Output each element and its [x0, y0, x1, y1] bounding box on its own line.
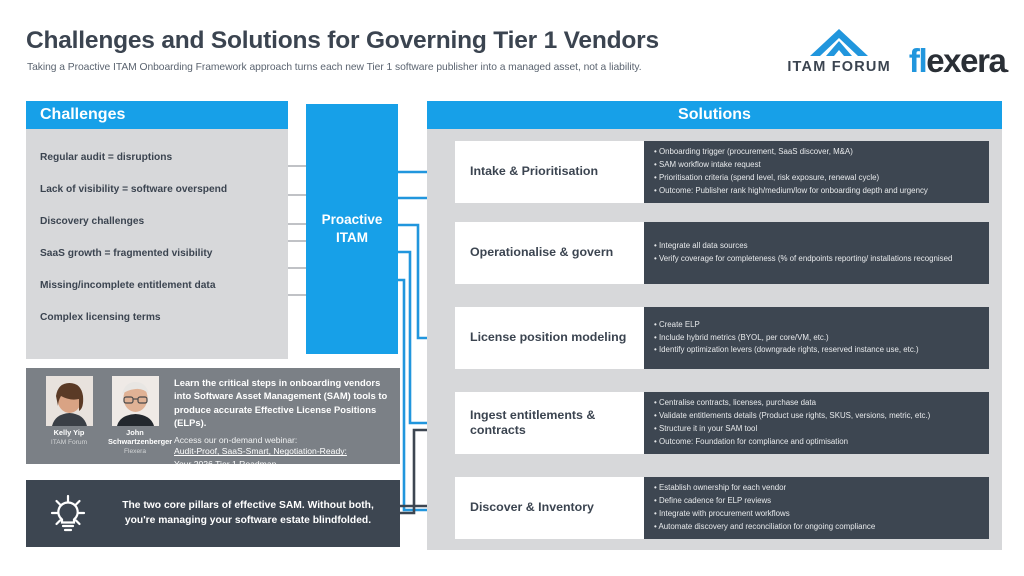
solution-bullets: Establish ownership for each vendor Defi… [644, 477, 989, 539]
proactive-itam-box: Proactive ITAM [306, 104, 398, 354]
bullet: Verify coverage for completeness (% of e… [654, 253, 980, 266]
speaker-name: John Schwartzenberger [108, 429, 162, 447]
lightbulb-icon [47, 493, 89, 535]
solution-label: Discover & Inventory [455, 477, 644, 539]
bullet: Establish ownership for each vendor [654, 482, 980, 495]
solution-bullets: Centralise contracts, licenses, purchase… [644, 392, 989, 454]
webinar-lead-text: Learn the critical steps in onboarding v… [174, 376, 390, 429]
bullet: Validate entitlements details (Product u… [654, 410, 980, 423]
page-title: Challenges and Solutions for Governing T… [26, 27, 659, 55]
speaker-org: Flexera [108, 448, 162, 455]
bullet: Integrate with procurement workflows [654, 508, 980, 521]
solution-label: Intake & Prioritisation [455, 141, 644, 203]
proactive-itam-line1: Proactive [322, 211, 383, 229]
speaker-card: Kelly Yip ITAM Forum [42, 376, 96, 456]
bullet: Integrate all data sources [654, 240, 980, 253]
solution-bullets: Integrate all data sources Verify covera… [644, 222, 989, 284]
lightbulb-icon-wrap [26, 493, 110, 535]
solution-row-license-position: License position modeling Create ELP Inc… [455, 307, 989, 369]
solutions-heading: Solutions [427, 101, 1002, 129]
solution-label: Ingest entitlements & contracts [455, 392, 644, 454]
webinar-link-line1[interactable]: Audit-Proof, SaaS-Smart, Negotiation-Rea… [174, 445, 390, 457]
challenges-heading: Challenges [26, 101, 288, 129]
speaker-org: ITAM Forum [42, 439, 96, 446]
itam-forum-wordmark: ITAM FORUM [787, 59, 891, 75]
avatar [112, 376, 159, 426]
bullet: SAM workflow intake request [654, 159, 980, 172]
webinar-access-text: Access our on-demand webinar: [174, 435, 390, 445]
bullet: Onboarding trigger (procurement, SaaS di… [654, 146, 980, 159]
avatar [46, 376, 93, 426]
solution-label: License position modeling [455, 307, 644, 369]
page-header: Challenges and Solutions for Governing T… [0, 0, 1024, 94]
challenges-panel: Challenges Regular audit = disruptions L… [26, 101, 288, 359]
bullet: Identify optimization levers (downgrade … [654, 344, 980, 357]
flexera-logo-blue: fl [909, 42, 926, 79]
itam-mountain-icon [806, 27, 872, 58]
solution-row-ingest-entitlements: Ingest entitlements & contracts Centrali… [455, 392, 989, 454]
challenges-list: Regular audit = disruptions Lack of visi… [26, 129, 288, 333]
bullet: Automate discovery and reconciliation fo… [654, 521, 980, 534]
challenge-item: Regular audit = disruptions [40, 141, 288, 173]
proactive-itam-line2: ITAM [336, 229, 368, 247]
webinar-link-line2[interactable]: Your 2026 Tier 1 Roadmap [174, 458, 390, 470]
challenge-item: Discovery challenges [40, 205, 288, 237]
bullet: Outcome: Publisher rank high/medium/low … [654, 185, 980, 198]
bullet: Include hybrid metrics (BYOL, per core/V… [654, 332, 980, 345]
pillars-callout-box: The two core pillars of effective SAM. W… [26, 480, 400, 547]
speaker-name: Kelly Yip [42, 429, 96, 438]
webinar-copy: Learn the critical steps in onboarding v… [162, 376, 390, 456]
solution-bullets: Onboarding trigger (procurement, SaaS di… [644, 141, 989, 203]
bullet: Create ELP [654, 319, 980, 332]
flexera-logo: flexera. [909, 44, 1008, 77]
solution-row-discover-inventory: Discover & Inventory Establish ownership… [455, 477, 989, 539]
speaker-card: John Schwartzenberger Flexera [108, 376, 162, 456]
bullet: Structure it in your SAM tool [654, 423, 980, 436]
speaker-group: Kelly Yip ITAM Forum John Schwartzenberg… [36, 376, 162, 456]
solution-bullets: Create ELP Include hybrid metrics (BYOL,… [644, 307, 989, 369]
bullet: Outcome: Foundation for compliance and o… [654, 436, 980, 449]
challenge-item: SaaS growth = fragmented visibility [40, 237, 288, 269]
solution-row-intake: Intake & Prioritisation Onboarding trigg… [455, 141, 989, 203]
logo-group: ITAM FORUM flexera. [787, 27, 1008, 75]
solution-row-operationalise: Operationalise & govern Integrate all da… [455, 222, 989, 284]
challenge-item: Missing/incomplete entitlement data [40, 269, 288, 301]
bullet: Centralise contracts, licenses, purchase… [654, 397, 980, 410]
itam-forum-logo: ITAM FORUM [787, 27, 891, 75]
bullet: Prioritisation criteria (spend level, ri… [654, 172, 980, 185]
challenge-item: Complex licensing terms [40, 301, 288, 333]
bullet: Define cadence for ELP reviews [654, 495, 980, 508]
webinar-promo-box: Kelly Yip ITAM Forum John Schwartzenberg… [26, 368, 400, 464]
flexera-logo-dark: exera [926, 42, 1005, 79]
solution-label: Operationalise & govern [455, 222, 644, 284]
page-subtitle: Taking a Proactive ITAM Onboarding Frame… [27, 62, 642, 73]
pillars-text: The two core pillars of effective SAM. W… [110, 499, 400, 529]
challenge-item: Lack of visibility = software overspend [40, 173, 288, 205]
flexera-logo-dot: . [1006, 59, 1009, 75]
